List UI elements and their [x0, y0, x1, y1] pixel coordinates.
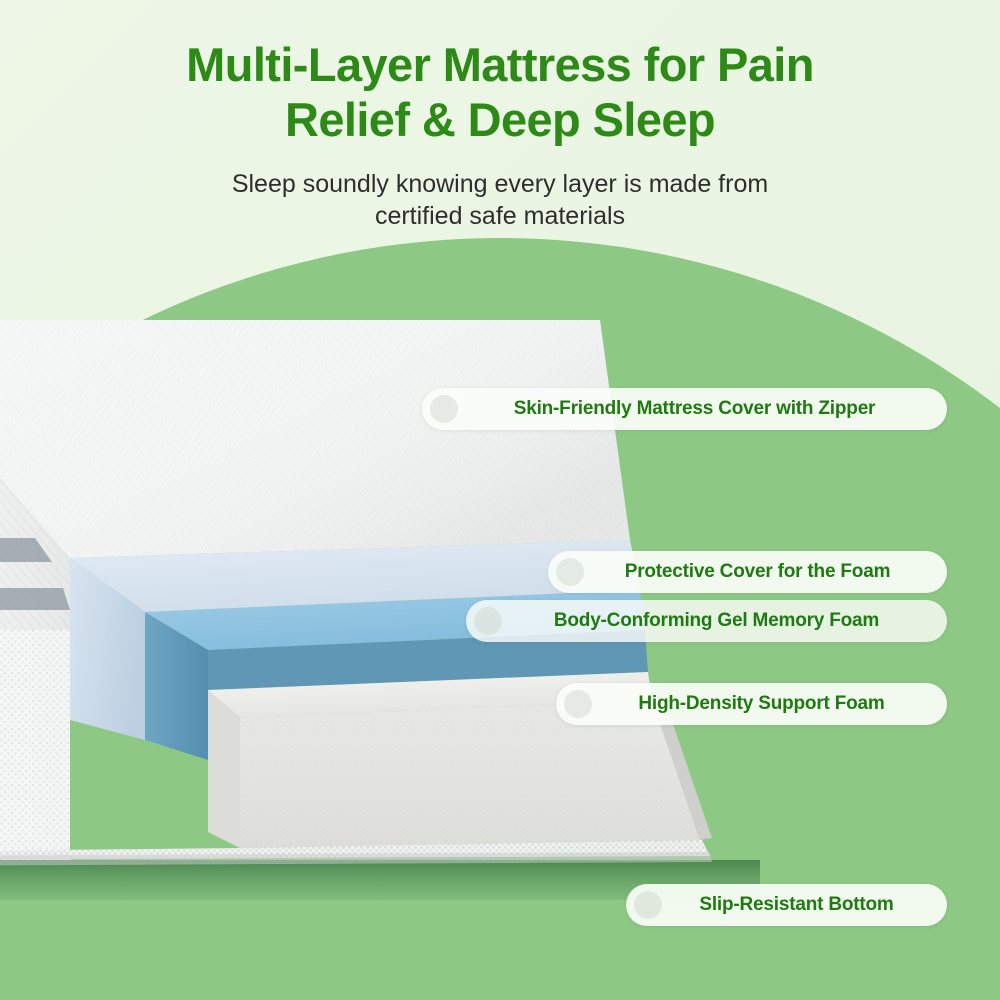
subtitle-line-1: Sleep soundly knowing every layer is mad… [0, 168, 1000, 201]
dot-marker-icon [474, 607, 502, 635]
label-gel-memory-foam: Body-Conforming Gel Memory Foam [466, 600, 947, 642]
label-skin-friendly-cover: Skin-Friendly Mattress Cover with Zipper [422, 388, 947, 430]
label-text: Slip-Resistant Bottom [668, 894, 925, 916]
label-support-foam: High-Density Support Foam [556, 683, 947, 725]
page-subtitle: Sleep soundly knowing every layer is mad… [0, 148, 1000, 233]
infographic-canvas: Multi-Layer Mattress for Pain Relief & D… [0, 0, 1000, 1000]
label-text: Skin-Friendly Mattress Cover with Zipper [464, 398, 925, 420]
dot-marker-icon [564, 690, 592, 718]
dot-marker-icon [556, 558, 584, 586]
page-title: Multi-Layer Mattress for Pain Relief & D… [0, 0, 1000, 148]
headings-block: Multi-Layer Mattress for Pain Relief & D… [0, 0, 1000, 233]
label-text: High-Density Support Foam [598, 693, 925, 715]
label-protective-cover: Protective Cover for the Foam [548, 551, 947, 593]
label-text: Protective Cover for the Foam [590, 561, 925, 583]
title-line-1: Multi-Layer Mattress for Pain [0, 38, 1000, 93]
title-line-2: Relief & Deep Sleep [0, 93, 1000, 148]
dot-marker-icon [430, 395, 458, 423]
label-slip-resistant-bottom: Slip-Resistant Bottom [626, 884, 947, 926]
label-text: Body-Conforming Gel Memory Foam [508, 610, 925, 632]
subtitle-line-2: certified safe materials [0, 200, 1000, 233]
dot-marker-icon [634, 891, 662, 919]
